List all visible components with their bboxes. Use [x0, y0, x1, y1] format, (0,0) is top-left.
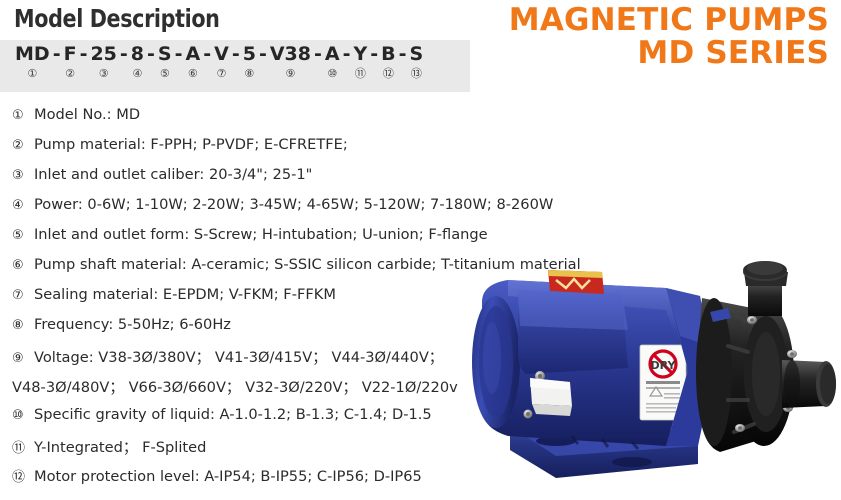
model-code-token: B⑫	[381, 44, 395, 81]
model-code-token-text: F	[64, 44, 77, 65]
spec-item-marker: ⑦	[12, 288, 31, 303]
spec-item-text: Motor protection level: A-IP54; B-IP55; …	[34, 468, 422, 485]
model-code-token-index: ②	[65, 66, 75, 81]
brand-title: MAGNETIC PUMPS MD SERIES	[509, 4, 829, 70]
model-code-separator: -	[232, 44, 240, 65]
model-code-separator: -	[147, 44, 155, 65]
motor-terminal-box	[518, 290, 628, 381]
model-code-token-index: ⑫	[383, 66, 394, 81]
svg-text:DRY: DRY	[651, 359, 677, 372]
spec-item-text: Specific gravity of liquid: A-1.0-1.2; B…	[34, 406, 432, 423]
model-code-token-index: ⑨	[285, 66, 295, 81]
model-code-token-text: Y	[354, 44, 368, 65]
spec-item-marker: ③	[12, 168, 31, 183]
model-code-separator: -	[399, 44, 407, 65]
model-code-token-index: ⑦	[217, 66, 227, 81]
model-code-token-index: ④	[132, 66, 142, 81]
spec-item-marker: ④	[12, 198, 31, 213]
product-image-magnetic-pump: DRY	[452, 250, 841, 500]
pump-suction-port	[782, 360, 836, 408]
model-code-token: 8④	[131, 44, 144, 81]
model-code-band: MD①-F②-25③-8④-S⑤-A⑥-V⑦-5⑧-V38⑨-A⑩-Y⑪-B⑫-…	[0, 40, 470, 92]
spec-item-text: Y-Integrated； F-Splited	[34, 436, 206, 457]
spec-item-text: Model No.: MD	[34, 106, 140, 123]
spec-list-item: ③Inlet and outlet caliber: 20-3/4"; 25-1…	[12, 166, 652, 196]
page-title: Model Description	[14, 4, 220, 33]
spec-item-text: Inlet and outlet form: S-Screw; H-intuba…	[34, 226, 488, 243]
model-code-token-text: A	[186, 44, 201, 65]
model-code-token-index: ⑪	[355, 66, 366, 81]
model-code-token: A⑩	[325, 44, 340, 81]
spec-item-marker: ⑥	[12, 258, 31, 273]
model-code-token: V⑦	[214, 44, 229, 81]
brand-label-sticker	[548, 270, 604, 294]
model-code-token-index: ⑤	[160, 66, 170, 81]
model-code-token-text: B	[381, 44, 395, 65]
spec-item-marker: ⑫	[12, 466, 31, 485]
spec-item-text: S-Standard； N-Non-Standard	[34, 496, 251, 500]
model-code-separator: -	[80, 44, 88, 65]
model-code-separator: -	[370, 44, 378, 65]
spec-item-text: Frequency: 5-50Hz; 6-60Hz	[34, 316, 231, 333]
model-code-token-text: A	[325, 44, 340, 65]
model-code-token: Y⑪	[354, 44, 368, 81]
spec-item-marker: ①	[12, 108, 31, 123]
model-code-separator: -	[53, 44, 61, 65]
model-code-separator: -	[175, 44, 183, 65]
brand-title-line1: MAGNETIC PUMPS	[509, 2, 829, 38]
model-code-separator: -	[343, 44, 351, 65]
spec-item-marker: ⑪	[12, 437, 31, 456]
spec-item-marker: ⑧	[12, 318, 31, 333]
model-code-token: S⑬	[410, 44, 424, 81]
spec-item-text: Pump material: F-PPH; P-PVDF; E-CFRETFE;	[34, 136, 348, 153]
model-code-token-text: 25	[90, 44, 116, 65]
model-code-token-index: ①	[27, 66, 37, 81]
cable-gland	[530, 378, 572, 416]
model-code-token-text: 8	[131, 44, 144, 65]
model-code-row: MD①-F②-25③-8④-S⑤-A⑥-V⑦-5⑧-V38⑨-A⑩-Y⑪-B⑫-…	[14, 44, 424, 81]
spec-list-item: ②Pump material: F-PPH; P-PVDF; E-CFRETFE…	[12, 136, 652, 166]
spec-list-item: ①Model No.: MD	[12, 106, 652, 136]
product-spec-page: Model Description MAGNETIC PUMPS MD SERI…	[0, 0, 841, 500]
model-code-token-text: MD	[15, 44, 50, 65]
model-code-token: S⑤	[158, 44, 172, 81]
model-code-token: MD①	[15, 44, 50, 81]
spec-item-marker: ②	[12, 138, 31, 153]
pump-discharge-port	[743, 261, 788, 316]
spec-item-text: Voltage: V38-3Ø/380V； V41-3Ø/415V； V44-3…	[34, 346, 443, 367]
model-code-token: 5⑧	[243, 44, 256, 81]
model-code-token-text: V	[214, 44, 229, 65]
model-code-token-index: ⑬	[411, 66, 422, 81]
model-code-separator: -	[314, 44, 322, 65]
model-code-separator: -	[259, 44, 267, 65]
model-code-token: 25③	[90, 44, 116, 81]
spec-item-marker: ⑤	[12, 228, 31, 243]
brand-title-line2: MD SERIES	[509, 37, 829, 70]
model-code-token-index: ⑧	[244, 66, 254, 81]
spec-item-text: V48-3Ø/480V； V66-3Ø/660V； V32-3Ø/220V； V…	[12, 376, 458, 397]
model-code-separator: -	[203, 44, 211, 65]
model-code-token-index: ⑥	[188, 66, 198, 81]
model-code-token-text: V38	[270, 44, 311, 65]
spec-list-item: ④Power: 0-6W; 1-10W; 2-20W; 3-45W; 4-65W…	[12, 196, 652, 226]
model-code-token: V38⑨	[270, 44, 311, 81]
model-code-token-text: 5	[243, 44, 256, 65]
model-code-token-text: S	[410, 44, 424, 65]
spec-item-text: Power: 0-6W; 1-10W; 2-20W; 3-45W; 4-65W;…	[34, 196, 553, 213]
model-code-token: A⑥	[186, 44, 201, 81]
spec-item-marker: ⑨	[12, 351, 31, 366]
spec-item-text: Inlet and outlet caliber: 20-3/4"; 25-1"	[34, 166, 312, 183]
spec-item-marker: ⑩	[12, 408, 31, 423]
model-code-token-text: S	[158, 44, 172, 65]
model-code-token: F②	[64, 44, 77, 81]
pump-head-casing	[696, 298, 797, 452]
model-code-token-index: ③	[99, 66, 109, 81]
spec-item-text: Sealing material: E-EPDM; V-FKM; F-FFKM	[34, 286, 336, 303]
model-code-token-index: ⑩	[327, 66, 337, 81]
model-code-separator: -	[120, 44, 128, 65]
